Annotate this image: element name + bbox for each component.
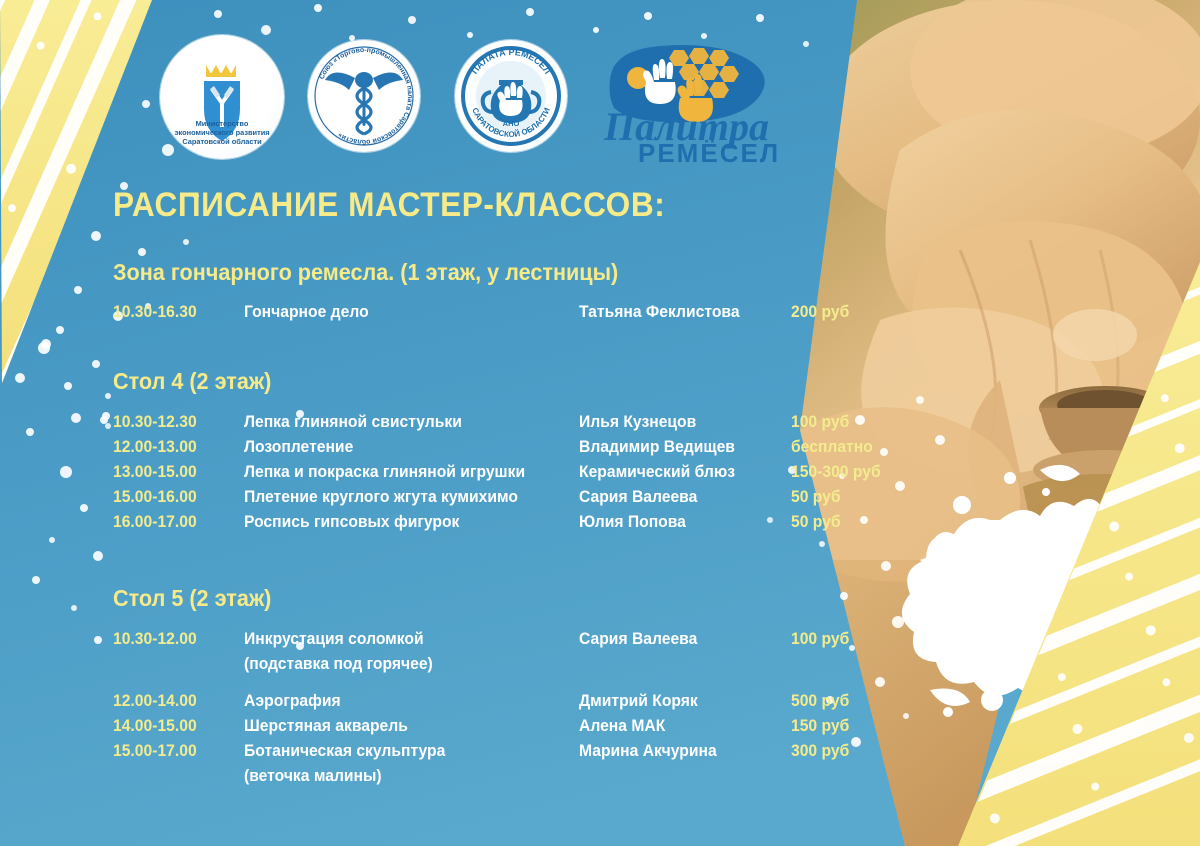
- row-person: Юлия Попова: [579, 513, 686, 532]
- row-price: 100 руб: [791, 630, 849, 649]
- row-desc: Шерстяная акварель: [244, 717, 408, 736]
- row-desc: Лепка и покраска глиняной игрушки: [244, 463, 525, 482]
- row-person: Татьяна Феклистова: [579, 303, 740, 322]
- section-title-table-5: Стол 5 (2 этаж): [113, 585, 271, 612]
- row-time: 13.00-15.00: [113, 463, 197, 482]
- row-person: Владимир Ведищев: [579, 438, 735, 457]
- row-desc: Плетение круглого жгута кумихимо: [244, 488, 518, 507]
- row-desc: (подставка под горячее): [244, 655, 433, 674]
- row-time: 16.00-17.00: [113, 513, 197, 532]
- row-desc: Лозоплетение: [244, 438, 353, 457]
- row-price: 500 руб: [791, 692, 849, 711]
- row-price: 100 руб: [791, 413, 849, 432]
- row-person: Дмитрий Коряк: [579, 692, 698, 711]
- row-desc: Гончарное дело: [244, 303, 369, 322]
- row-desc: Инкрустация соломкой: [244, 630, 424, 649]
- row-price: 300 руб: [791, 742, 849, 761]
- row-person: Сария Валеева: [579, 630, 697, 649]
- row-desc: Аэрография: [244, 692, 341, 711]
- row-price: 150-300 руб: [791, 463, 881, 482]
- row-desc: Ботаническая скульптура: [244, 742, 445, 761]
- row-price: 200 руб: [791, 303, 849, 322]
- row-price: 50 руб: [791, 488, 841, 507]
- row-person: Сария Валеева: [579, 488, 697, 507]
- schedule-content: РАСПИСАНИЕ МАСТЕР-КЛАССОВ: Зона гончарно…: [0, 0, 900, 846]
- row-desc: Роспись гипсовых фигурок: [244, 513, 459, 532]
- row-time: 12.00-14.00: [113, 692, 197, 711]
- poster-canvas: Министерство экономического развития Сар…: [0, 0, 1200, 846]
- section-title-table-4: Стол 4 (2 этаж): [113, 368, 271, 395]
- row-price: 50 руб: [791, 513, 841, 532]
- row-time: 10.30-16.30: [113, 303, 197, 322]
- row-person: Илья Кузнецов: [579, 413, 696, 432]
- row-price: 150 руб: [791, 717, 849, 736]
- row-desc: (веточка малины): [244, 767, 382, 786]
- row-time: 14.00-15.00: [113, 717, 197, 736]
- row-time: 10.30-12.30: [113, 413, 197, 432]
- row-person: Керамический блюз: [579, 463, 735, 482]
- page-title: РАСПИСАНИЕ МАСТЕР-КЛАССОВ:: [113, 186, 665, 225]
- row-time: 10.30-12.00: [113, 630, 197, 649]
- section-title-pottery-zone: Зона гончарного ремесла. (1 этаж, у лест…: [113, 259, 618, 286]
- row-time: 12.00-13.00: [113, 438, 197, 457]
- row-price: бесплатно: [791, 438, 873, 457]
- row-time: 15.00-17.00: [113, 742, 197, 761]
- row-desc: Лепка глиняной свистульки: [244, 413, 462, 432]
- row-time: 15.00-16.00: [113, 488, 197, 507]
- row-person: Алена МАК: [579, 717, 665, 736]
- row-person: Марина Акчурина: [579, 742, 717, 761]
